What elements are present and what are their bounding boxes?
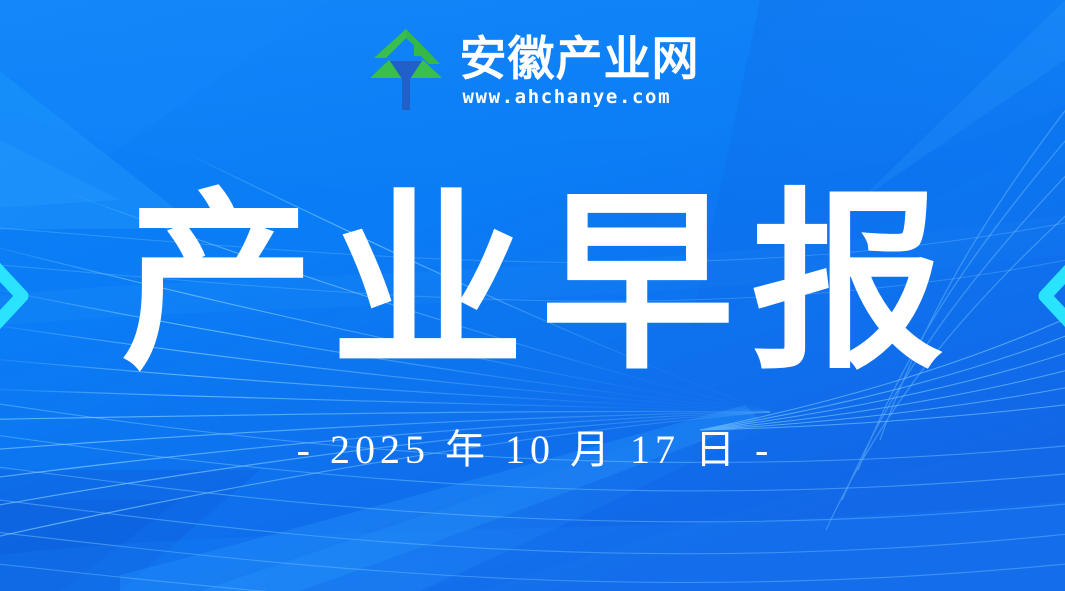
poster-headline: 产业早报 [0,186,1065,381]
site-logo[interactable]: 安徽产业网 www.ahchanye.com [0,26,1065,114]
poster-date: - 2025 年 10 月 17 日 - [0,424,1065,476]
logo-site-name: 安徽产业网 [460,34,700,84]
anhui-chanye-logo-mark-icon [366,26,446,114]
logo-text-group: 安徽产业网 www.ahchanye.com [460,32,700,108]
logo-site-url: www.ahchanye.com [460,86,672,108]
poster-canvas: 安徽产业网 www.ahchanye.com 产业早报 - 2025 年 10 … [0,0,1065,591]
